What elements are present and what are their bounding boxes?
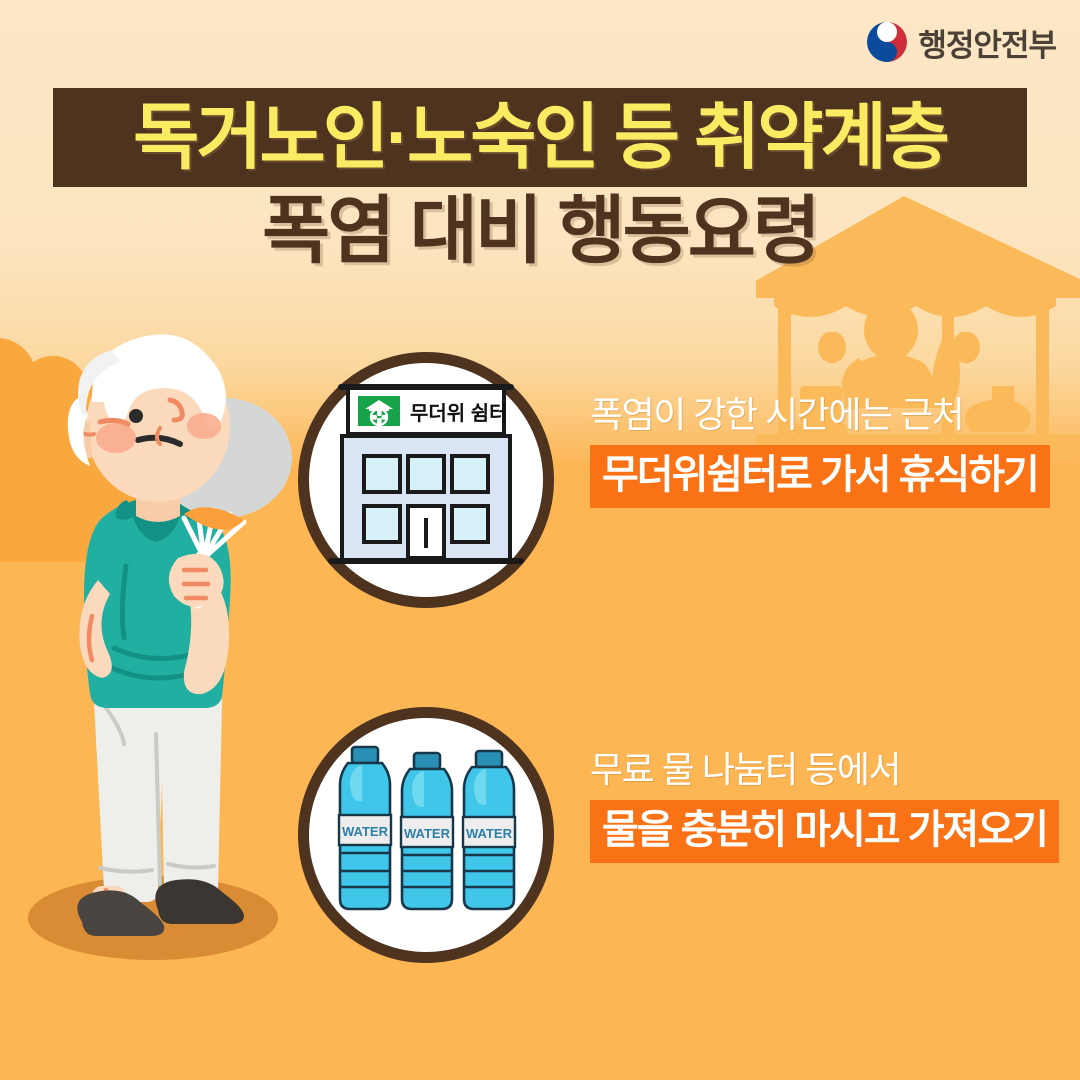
- government-logo: 행정안전부: [866, 16, 1056, 68]
- tip-1-highlight: 무더위쉼터로 가서 휴식하기: [590, 445, 1050, 508]
- svg-text:WATER: WATER: [342, 824, 389, 839]
- tip-2-line-top: 무료 물 나눔터 등에서: [590, 747, 1060, 792]
- taegeuk-icon: [866, 21, 908, 63]
- title-line-2: 폭염 대비 행동요령: [0, 192, 1080, 270]
- elderly-person-illustration: [8, 330, 308, 970]
- tip-text-block-2: 무료 물 나눔터 등에서 물을 충분히 마시고 가져오기: [590, 747, 1060, 863]
- title-line-1: 독거노인·노숙인 등 취약계층: [133, 102, 947, 174]
- tip-1-line-top: 폭염이 강한 시간에는 근처: [590, 392, 1060, 437]
- cooling-shelter-building-icon: 무더위 쉼터: [298, 352, 554, 608]
- title-band: 독거노인·노숙인 등 취약계층: [53, 88, 1027, 187]
- svg-text:무더위 쉼터: 무더위 쉼터: [410, 402, 508, 425]
- svg-text:WATER: WATER: [466, 826, 513, 841]
- poster-canvas: 행정안전부 독거노인·노숙인 등 취약계층 폭염 대비 행동요령 무: [0, 0, 1080, 1080]
- tip-text-block-1: 폭염이 강한 시간에는 근처 무더위쉼터로 가서 휴식하기: [590, 392, 1060, 508]
- water-bottles-icon: WATER WATER: [298, 707, 554, 963]
- agency-name: 행정안전부: [918, 20, 1056, 65]
- tip-2-highlight: 물을 충분히 마시고 가져오기: [590, 800, 1059, 863]
- svg-text:WATER: WATER: [404, 826, 451, 841]
